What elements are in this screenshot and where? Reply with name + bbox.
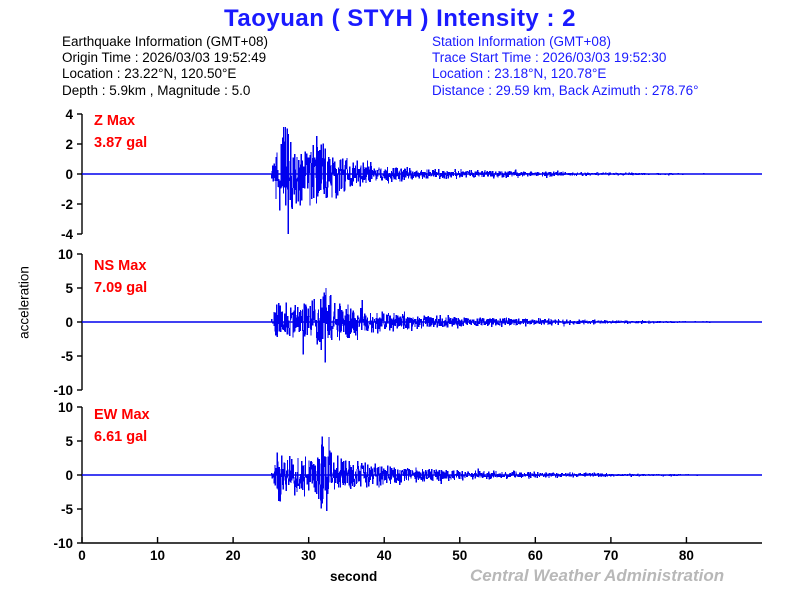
x-axis: 01020304050607080 <box>78 537 762 563</box>
svg-text:-4: -4 <box>61 227 73 242</box>
channel-label-z: Z Max <box>94 113 135 129</box>
svg-text:0: 0 <box>65 468 73 483</box>
waveform-trace-ns <box>82 288 762 363</box>
svg-text:0: 0 <box>65 167 73 182</box>
panel-z: 420-2-4Z Max3.87 gal <box>61 107 762 242</box>
svg-text:10: 10 <box>58 247 73 262</box>
svg-text:-2: -2 <box>61 197 73 212</box>
waveform-trace-ew <box>82 436 762 511</box>
x-axis-label: second <box>330 569 377 584</box>
svg-text:5: 5 <box>65 434 73 449</box>
svg-text:4: 4 <box>65 107 73 122</box>
channel-label-ew: EW Max <box>94 407 150 423</box>
svg-text:-5: -5 <box>61 502 73 517</box>
agency-watermark: Central Weather Administration <box>470 566 724 586</box>
y-axis-label: acceleration <box>17 243 32 363</box>
svg-text:0: 0 <box>65 315 73 330</box>
channel-label-ns: NS Max <box>94 258 146 274</box>
channel-max-ns: 7.09 gal <box>94 280 147 296</box>
channel-max-z: 3.87 gal <box>94 135 147 151</box>
svg-text:10: 10 <box>58 400 73 415</box>
svg-text:-10: -10 <box>53 383 73 398</box>
seismogram-page: Taoyuan ( STYH ) Intensity : 2 Earthquak… <box>0 0 800 600</box>
svg-text:-5: -5 <box>61 349 73 364</box>
panel-ns: 1050-5-10NS Max7.09 gal <box>53 247 762 398</box>
svg-text:5: 5 <box>65 281 73 296</box>
svg-text:-10: -10 <box>53 536 73 551</box>
waveform-trace-z <box>82 127 762 234</box>
svg-text:2: 2 <box>65 137 73 152</box>
seismogram-plot: 420-2-4Z Max3.87 gal1050-5-10NS Max7.09 … <box>0 0 800 600</box>
panel-ew: 1050-5-10EW Max6.61 gal <box>53 400 762 551</box>
channel-max-ew: 6.61 gal <box>94 429 147 445</box>
